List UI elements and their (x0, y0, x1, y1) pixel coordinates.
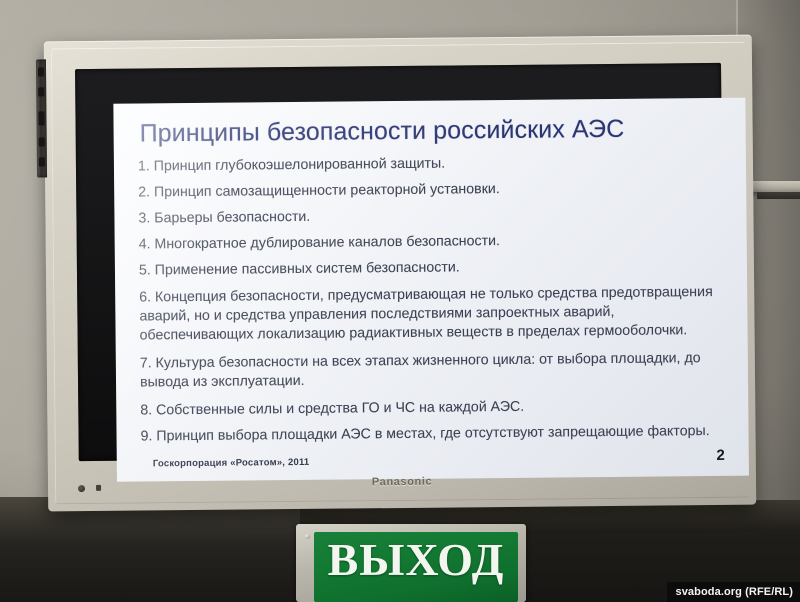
slide-source-credit: Госкорпорация «Росатом», 2011 (153, 457, 310, 470)
list-item: 3. Барьеры безопасности. (138, 204, 728, 229)
list-item: 7. Культура безопасности на всех этапах … (140, 349, 730, 392)
slide-page-number: 2 (716, 447, 725, 464)
list-item: 5. Применение пассивных систем безопасно… (139, 255, 729, 280)
list-item: 1. Принцип глубокоэшелонированной защиты… (138, 152, 728, 177)
list-item: 6. Концепция безопасности, предусматрива… (139, 283, 730, 345)
tv-screen-bezel: Принципы безопасности российских АЭС 1. … (75, 63, 725, 461)
tv-side-connector-panel (36, 59, 47, 177)
emergency-exit-sign: ВЫХОД (296, 524, 526, 602)
list-item: 2. Принцип самозащищенности реакторной у… (138, 178, 728, 203)
tv-power-led (78, 485, 85, 492)
slide-content: Принципы безопасности российских АЭС 1. … (113, 98, 749, 482)
presentation-screen: Принципы безопасности российских АЭС 1. … (113, 98, 749, 482)
slide-bullet-list: 1. Принцип глубокоэшелонированной защиты… (136, 152, 731, 446)
watermark-label: svaboda.org (RFE/RL) (667, 582, 800, 602)
slide-title: Принципы безопасности российских АЭС (140, 114, 728, 149)
exit-sign-panel: ВЫХОД (314, 532, 518, 602)
list-item: 9. Принцип выбора площадки АЭС в местах,… (140, 421, 730, 446)
slide-footer: Госкорпорация «Росатом», 2011 2 (153, 447, 731, 470)
tv-ir-sensor (96, 485, 101, 491)
list-item: 4. Многократное дублирование каналов без… (139, 229, 729, 254)
exit-sign-text: ВЫХОД (328, 536, 505, 584)
list-item: 8. Собственные силы и средства ГО и ЧС н… (140, 396, 730, 421)
exit-sign-screw (305, 534, 310, 539)
photo-scene: Принципы безопасности российских АЭС 1. … (0, 0, 800, 602)
wall-mounted-tv: Принципы безопасности российских АЭС 1. … (44, 35, 756, 512)
